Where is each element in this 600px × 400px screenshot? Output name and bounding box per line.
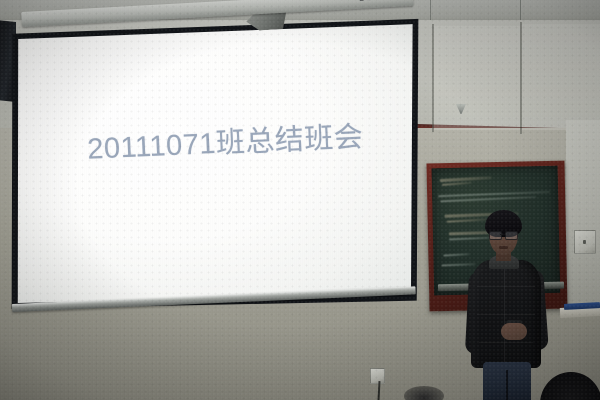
presenter-mouth <box>499 246 508 249</box>
glasses-left-lens <box>489 231 502 240</box>
classroom-photo: 20111071班总结班会 ▲MITSUBISHI <box>0 0 600 400</box>
brand-logo-text: MITSUBISHI <box>367 0 399 2</box>
light-switch[interactable] <box>574 230 596 254</box>
wall-panel <box>522 24 600 130</box>
jacket-zipper <box>504 266 505 362</box>
chalk-stroke <box>442 182 472 186</box>
chalk-stroke <box>440 196 536 202</box>
jacket-seam <box>477 286 535 287</box>
switch-dot-icon <box>583 240 586 244</box>
trouser-seam <box>506 370 508 400</box>
jacket-seam <box>477 314 535 315</box>
jacket-seam <box>479 342 533 343</box>
slide-content: 20111071班总结班会 <box>3 3 426 319</box>
right-wall-panel <box>566 120 600 305</box>
foreground-blur <box>404 386 444 400</box>
slide-title: 20111071班总结班会 <box>86 113 364 167</box>
wall-panel <box>434 26 520 130</box>
brand-logo: ▲MITSUBISHI <box>358 0 399 3</box>
presenter <box>455 210 565 400</box>
brand-mark-icon: ▲ <box>358 0 365 2</box>
presenter-jacket <box>471 260 541 368</box>
glasses-icon <box>489 231 518 238</box>
glasses-right-lens <box>505 231 518 240</box>
presenter-hands <box>501 323 527 340</box>
projection-screen: 20111071班总结班会 ▲MITSUBISHI <box>10 12 422 317</box>
